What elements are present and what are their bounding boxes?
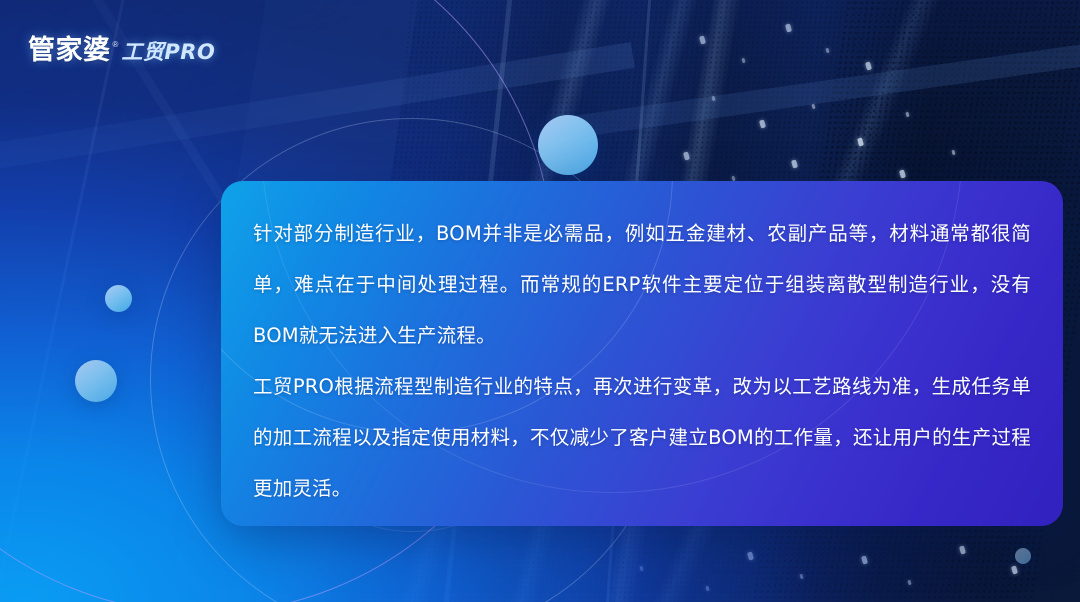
- brand-name-chinese: 管家婆: [28, 28, 111, 67]
- registered-trademark-icon: ®: [113, 40, 119, 49]
- brand-product-name: 工贸PRO: [121, 36, 215, 66]
- brand-logo: 管家婆 ® 工贸PRO: [28, 28, 215, 67]
- sphere-bottom-right-icon: [1015, 548, 1031, 564]
- content-card: 针对部分制造行业，BOM并非是必需品，例如五金建材、农副产品等，材料通常都很简单…: [221, 181, 1063, 526]
- content-card-body: 针对部分制造行业，BOM并非是必需品，例如五金建材、农副产品等，材料通常都很简单…: [221, 181, 1063, 526]
- sphere-top-center-icon: [538, 115, 598, 175]
- paragraph-2: 工贸PRO根据流程型制造行业的特点，再次进行变革，改为以工艺路线为准，生成任务单…: [253, 361, 1031, 514]
- sphere-left-large-icon: [75, 360, 117, 402]
- slide-canvas: 管家婆 ® 工贸PRO 针对部分制造行业，BOM并非是必需品，例如五金建材、农副…: [0, 0, 1080, 602]
- sphere-left-small-icon: [105, 285, 132, 312]
- paragraph-1: 针对部分制造行业，BOM并非是必需品，例如五金建材、农副产品等，材料通常都很简单…: [253, 208, 1031, 361]
